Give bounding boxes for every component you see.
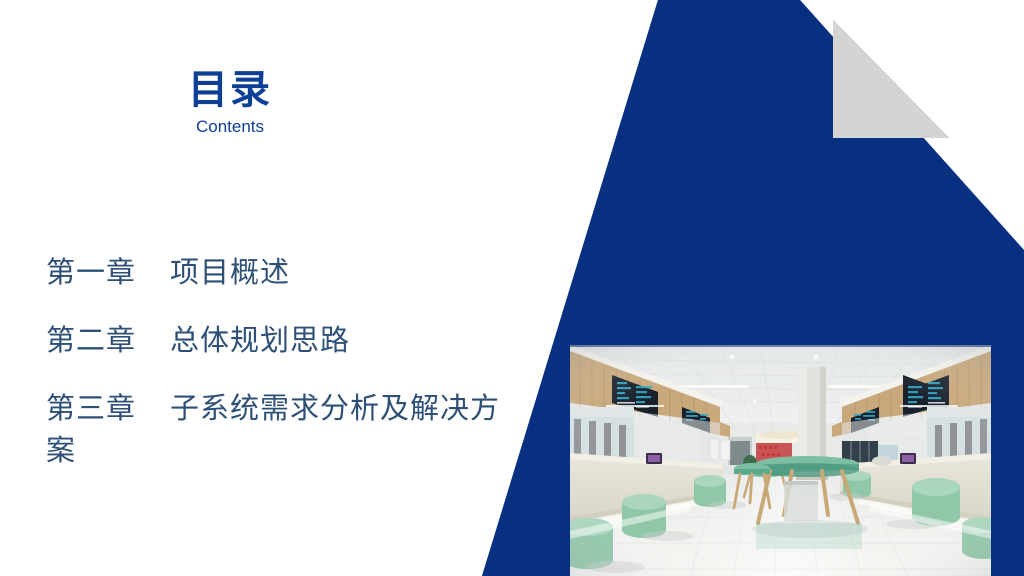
gray-triangle-notch-fill xyxy=(833,20,949,138)
toc-item-number: 第二章 xyxy=(46,325,136,357)
toc-item-chapter-2[interactable]: 第二章总体规划思路 xyxy=(46,320,524,362)
table-of-contents: 第一章项目概述 第二章总体规划思路 第三章子系统需求分析及解决方案 xyxy=(46,252,524,472)
white-cutout-wedge xyxy=(833,0,1024,138)
white-outer-diagonal xyxy=(800,0,1024,250)
gray-triangle-notch xyxy=(833,20,949,138)
page-subtitle: Contents xyxy=(0,116,460,138)
toc-item-number: 第三章 xyxy=(46,393,136,425)
service-hall-photo xyxy=(570,345,991,576)
slide-canvas: 目录 Contents 第一章项目概述 第二章总体规划思路 第三章子系统需求分析… xyxy=(0,0,1024,576)
page-title: 目录 xyxy=(0,68,460,112)
toc-item-number: 第一章 xyxy=(46,257,136,289)
toc-item-chapter-1[interactable]: 第一章项目概述 xyxy=(46,252,524,294)
photo-svg xyxy=(570,345,991,576)
toc-item-label: 总体规划思路 xyxy=(170,325,350,357)
navy-upper-right-edge xyxy=(800,0,1024,250)
toc-item-label: 项目概述 xyxy=(170,257,290,289)
toc-item-chapter-3[interactable]: 第三章子系统需求分析及解决方案 xyxy=(46,388,524,472)
title-block: 目录 Contents xyxy=(0,68,460,138)
